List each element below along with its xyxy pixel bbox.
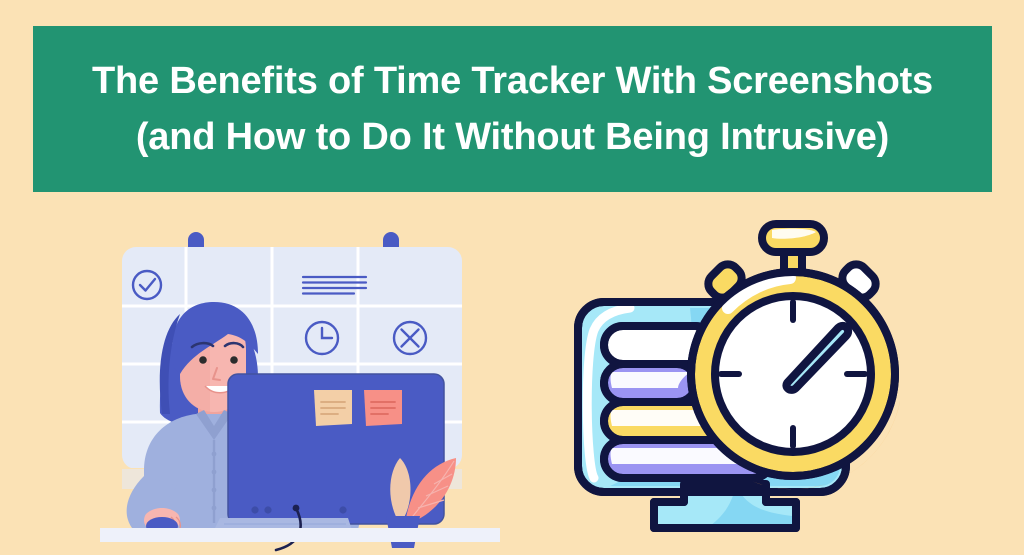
sticky-note-2 <box>364 390 402 426</box>
stopwatch <box>691 224 900 489</box>
banner-graphic: The Benefits of Time Tracker With Screen… <box>0 0 1024 555</box>
desk-surface <box>100 528 500 542</box>
workspace-illustration <box>100 218 500 555</box>
dashboard-stopwatch-illustration <box>560 216 900 555</box>
title-banner: The Benefits of Time Tracker With Screen… <box>33 26 992 192</box>
sticky-note-1 <box>314 390 352 426</box>
title-line-2: (and How to Do It Without Being Intrusiv… <box>136 109 889 165</box>
title-line-1: The Benefits of Time Tracker With Screen… <box>92 53 933 109</box>
